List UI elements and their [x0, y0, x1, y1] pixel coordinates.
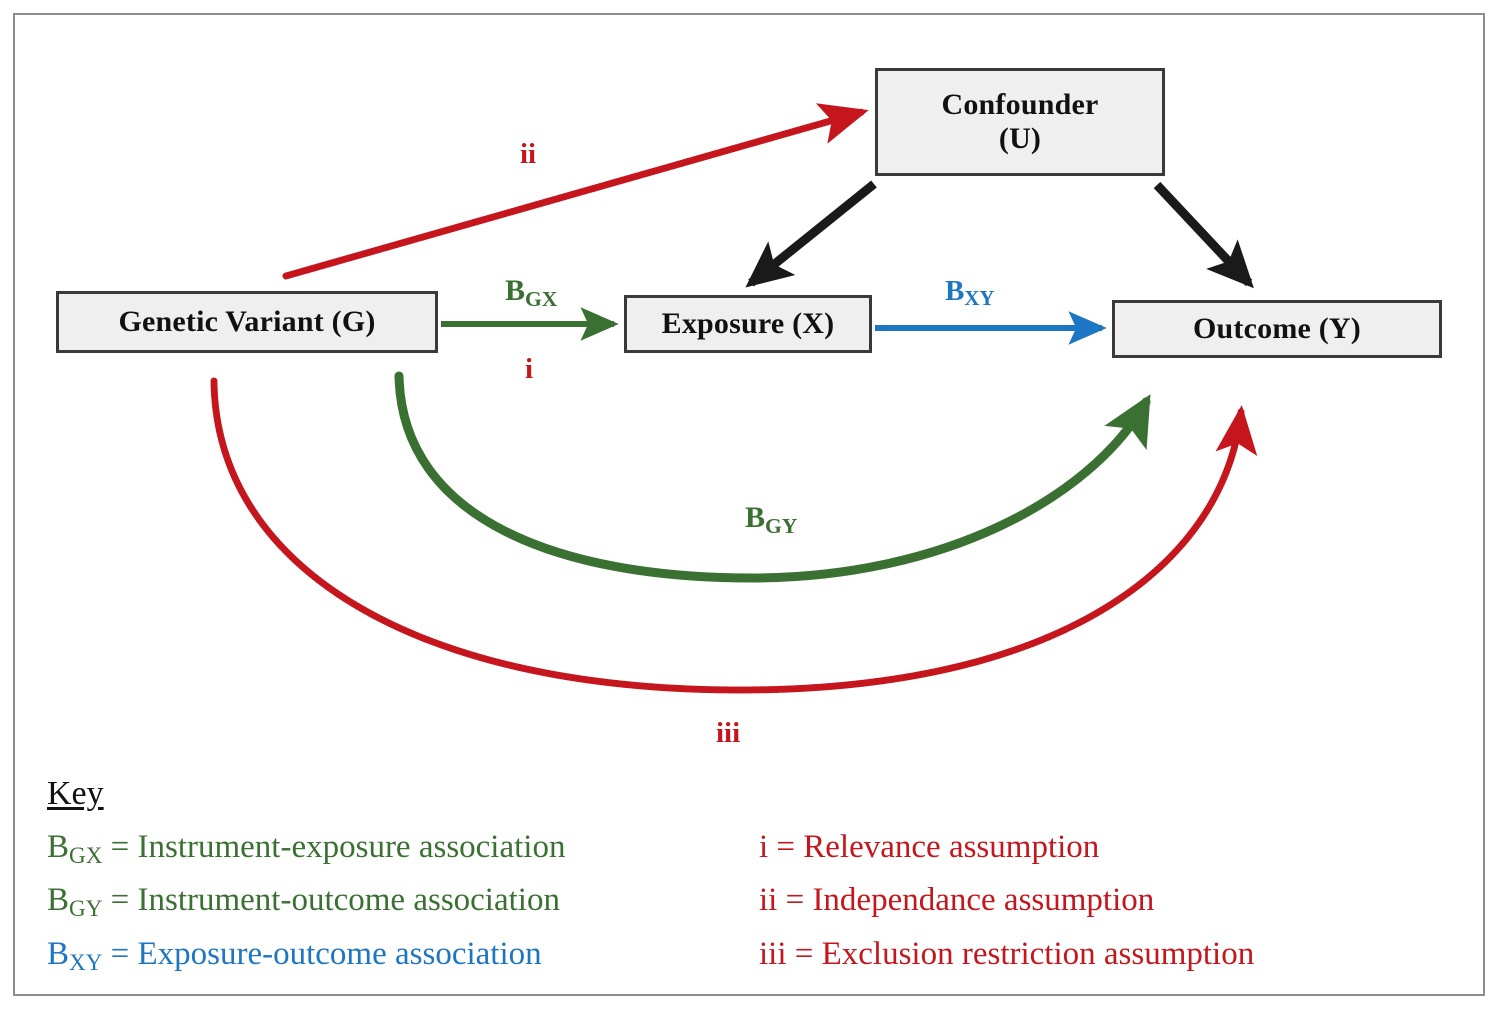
key-column-right: i = Relevance assumption ii = Independan…	[759, 821, 1459, 981]
edge-label-bgx-base: B	[505, 274, 525, 307]
key-row-bgy-text: = Instrument-outcome association	[102, 882, 560, 918]
key-row-bxy: BXY = Exposure-outcome association	[47, 928, 759, 981]
edge-label-bxy-sub: XY	[964, 286, 994, 310]
edge-label-bgx: BGX	[505, 276, 557, 306]
diagram-canvas: Confounder (U) Genetic Variant (G) Expos…	[0, 0, 1500, 1020]
key-columns: BGX = Instrument-exposure association BG…	[47, 821, 1467, 981]
key-row-iii: iii = Exclusion restriction assumption	[759, 928, 1459, 981]
edge-label-i: i	[525, 355, 533, 384]
key-row-i: i = Relevance assumption	[759, 821, 1459, 874]
node-genetic-variant[interactable]: Genetic Variant (G)	[56, 291, 438, 353]
key-row-bgx-sub: GX	[69, 842, 102, 868]
key-section: Key BGX = Instrument-exposure associatio…	[47, 775, 1467, 981]
node-outcome[interactable]: Outcome (Y)	[1112, 300, 1442, 358]
edge-label-iii: iii	[716, 719, 740, 748]
node-confounder-label: Confounder (U)	[941, 88, 1098, 155]
key-row-bgx-base: B	[47, 829, 69, 865]
node-exposure-label: Exposure (X)	[662, 307, 835, 341]
key-row-bgy: BGY = Instrument-outcome association	[47, 874, 759, 927]
key-row-bgx-text: = Instrument-exposure association	[102, 829, 565, 865]
edge-label-bgy-base: B	[745, 501, 765, 534]
key-row-bxy-sub: XY	[69, 949, 102, 975]
node-genetic-variant-label: Genetic Variant (G)	[118, 305, 375, 339]
key-row-bgx: BGX = Instrument-exposure association	[47, 821, 759, 874]
key-row-bgy-base: B	[47, 882, 69, 918]
key-row-ii: ii = Independance assumption	[759, 874, 1459, 927]
edge-label-bxy: BXY	[945, 277, 995, 306]
key-row-bgy-sub: GY	[69, 895, 102, 921]
edge-label-bxy-base: B	[945, 275, 964, 307]
edge-label-bgx-sub: GX	[525, 287, 557, 311]
node-confounder[interactable]: Confounder (U)	[875, 68, 1165, 176]
edge-label-ii: ii	[520, 140, 536, 169]
key-column-left: BGX = Instrument-exposure association BG…	[47, 821, 759, 981]
node-outcome-label: Outcome (Y)	[1193, 312, 1361, 346]
node-confounder-line1: Confounder	[941, 88, 1098, 121]
node-exposure[interactable]: Exposure (X)	[624, 295, 872, 353]
key-title: Key	[47, 775, 104, 813]
key-row-bxy-text: = Exposure-outcome association	[102, 936, 541, 972]
node-confounder-line2: (U)	[999, 122, 1041, 155]
key-row-bxy-base: B	[47, 936, 69, 972]
edge-label-bgy-sub: GY	[765, 514, 797, 538]
edge-label-bgy: BGY	[745, 503, 797, 533]
